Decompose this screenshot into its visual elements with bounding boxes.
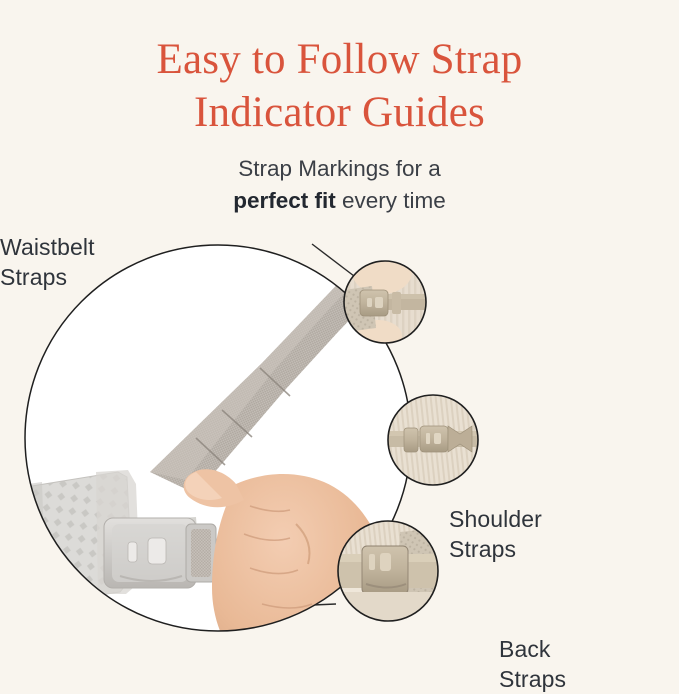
infographic-root: Easy to Follow Strap Indicator Guides St… [0, 0, 679, 679]
callout-circle-back[interactable] [388, 395, 478, 485]
callout-circle-waistbelt[interactable] [338, 521, 438, 622]
main-photo-circle [0, 232, 679, 679]
subtitle-emphasis: perfect fit [233, 188, 336, 213]
subtitle-line-2: perfect fit every time [0, 185, 679, 217]
photo-scene [0, 232, 679, 679]
page-subtitle: Strap Markings for a perfect fit every t… [0, 153, 679, 217]
subtitle-line-1: Strap Markings for a [0, 153, 679, 185]
page-title: Easy to Follow Strap Indicator Guides [0, 33, 679, 139]
product-photo-area: Shoulder Straps Back Straps Waistbelt St… [0, 232, 679, 679]
callout-label-back: Back Straps [499, 634, 566, 694]
callout-label-waistbelt: Waistbelt Straps [0, 232, 95, 292]
subtitle-tail: every time [336, 188, 446, 213]
buckle-main [104, 518, 216, 588]
callout-label-shoulder: Shoulder Straps [449, 504, 542, 564]
